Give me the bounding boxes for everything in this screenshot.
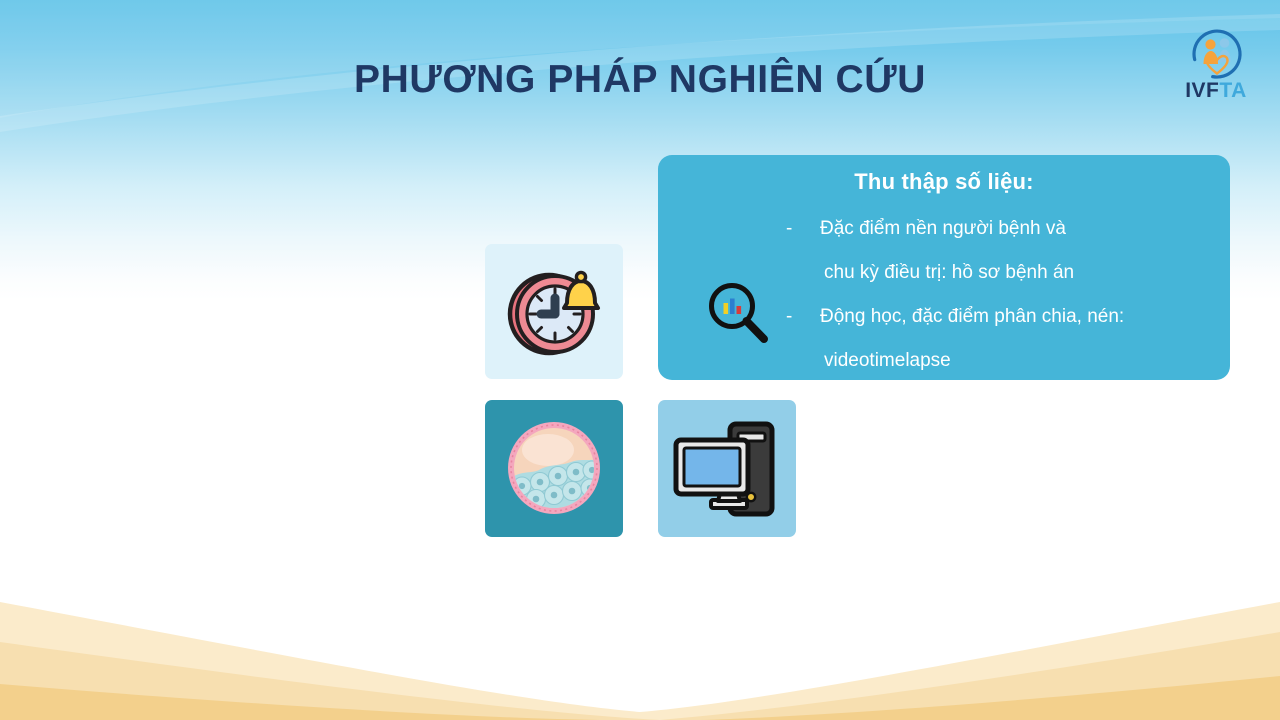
logo-text-secondary: TA <box>1219 79 1246 102</box>
magnifier-bar-chart-icon <box>702 277 776 351</box>
bullet-marker: - <box>786 295 820 339</box>
bullet-marker: - <box>786 207 820 251</box>
bullet-line-2: videotimelapse <box>786 339 1216 383</box>
card-heading: Thu thập số liệu: <box>658 169 1230 195</box>
alarm-clock-icon <box>485 244 623 379</box>
card-bullet-list: - Đặc điểm nền người bệnh và chu kỳ điều… <box>786 207 1216 383</box>
bullet-line-2: chu kỳ điều trị: hồ sơ bệnh án <box>786 251 1216 295</box>
data-collection-card: Thu thập số liệu: - Đặc điểm nền người b… <box>658 155 1230 380</box>
list-item: - Động học, đặc điểm phân chia, nén: <box>786 295 1216 339</box>
ivfta-logo-mark-icon <box>1190 28 1244 80</box>
tile-computer <box>658 400 796 537</box>
bottom-wave-decoration <box>0 580 1280 720</box>
desktop-computer-icon <box>658 400 796 537</box>
slide-canvas: PHƯƠNG PHÁP NGHIÊN CỨU IVFTA Thu thập số… <box>0 0 1280 720</box>
bullet-line-1: Động học, đặc điểm phân chia, nén: <box>820 295 1216 339</box>
logo-text-primary: IVF <box>1185 79 1219 102</box>
tile-embryo <box>485 400 623 537</box>
ivfta-logo: IVFTA <box>1172 28 1260 114</box>
bullet-line-1: Đặc điểm nền người bệnh và <box>820 207 1216 251</box>
embryo-blastocyst-icon <box>485 400 623 537</box>
slide-title: PHƯƠNG PHÁP NGHIÊN CỨU <box>0 58 1280 102</box>
tile-alarm-clock <box>485 244 623 379</box>
ivfta-logo-text: IVFTA <box>1172 80 1260 101</box>
list-item: - Đặc điểm nền người bệnh và <box>786 207 1216 251</box>
